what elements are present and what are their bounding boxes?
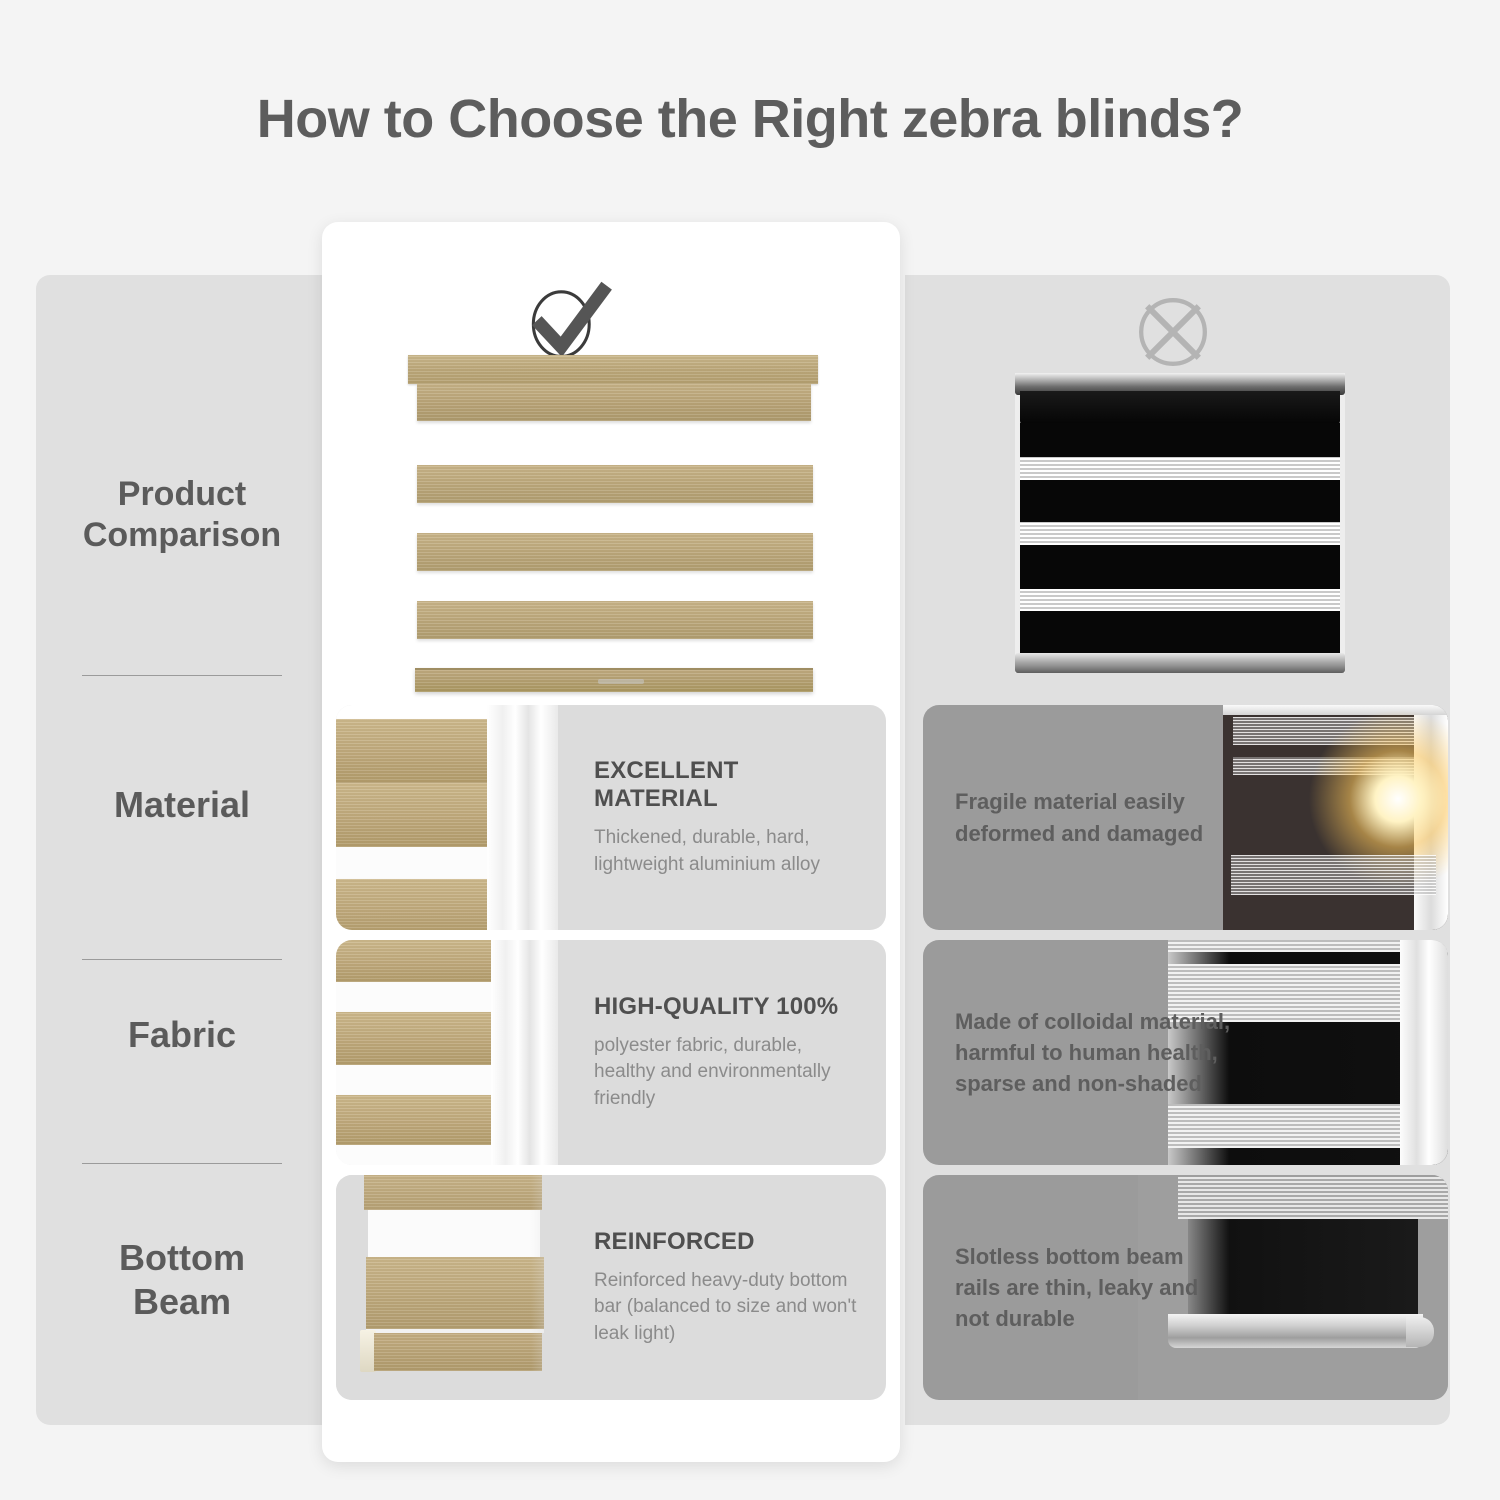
sidebar-divider-3	[82, 1163, 282, 1164]
good-bottom-beam-body: Reinforced heavy-duty bottom bar (balanc…	[594, 1268, 869, 1347]
bad-bottom-beam-text: Slotless bottom beam rails are thin, lea…	[955, 1175, 1225, 1400]
bad-material-photo	[1223, 705, 1448, 930]
sidebar-label-line2: Comparison	[83, 515, 281, 556]
good-fabric-photo	[336, 940, 558, 1165]
sidebar-label-line1: Material	[114, 783, 250, 827]
cross-circle-icon	[1130, 289, 1216, 375]
good-card-fabric: HIGH-QUALITY 100% polyester fabric, dura…	[336, 940, 886, 1165]
bad-card-material: Fragile material easily deformed and dam…	[923, 705, 1448, 930]
sidebar-divider-1	[82, 675, 282, 676]
sidebar-divider-2	[82, 959, 282, 960]
good-product-panel: EXCELLENT MATERIAL Thickened, durable, h…	[322, 222, 900, 1462]
infographic-page: How to Choose the Right zebra blinds? Pr…	[0, 0, 1500, 1500]
sidebar-item-product-comparison: Product Comparison	[36, 455, 328, 575]
good-material-body: Thickened, durable, hard, lightweight al…	[594, 825, 864, 877]
sidebar-label-line2: Beam	[133, 1280, 231, 1324]
bad-hero-image	[1015, 373, 1345, 673]
good-card-bottom-beam: REINFORCED Reinforced heavy-duty bottom …	[336, 1175, 886, 1400]
good-bottom-beam-heading: REINFORCED	[594, 1228, 869, 1256]
check-circle-icon	[515, 270, 625, 366]
good-fabric-text-block: HIGH-QUALITY 100% polyester fabric, dura…	[594, 940, 864, 1165]
good-hero-image	[408, 355, 818, 705]
bad-product-panel: Fragile material easily deformed and dam…	[905, 275, 1450, 1425]
good-material-photo	[336, 705, 558, 930]
sidebar-label-line1: Bottom	[119, 1236, 245, 1280]
sidebar-item-bottom-beam: Bottom Beam	[36, 1225, 328, 1335]
good-material-text-block: EXCELLENT MATERIAL Thickened, durable, h…	[594, 705, 864, 930]
good-fabric-heading: HIGH-QUALITY 100%	[594, 993, 864, 1021]
good-bottom-beam-text-block: REINFORCED Reinforced heavy-duty bottom …	[594, 1175, 869, 1400]
sidebar-label-line1: Product	[118, 474, 246, 515]
sidebar-item-material: Material	[36, 775, 328, 835]
page-title: How to Choose the Right zebra blinds?	[0, 88, 1500, 150]
good-fabric-body: polyester fabric, durable, healthy and e…	[594, 1033, 864, 1112]
bad-fabric-text: Made of colloidal material, harmful to h…	[955, 940, 1240, 1165]
bad-card-bottom-beam: Slotless bottom beam rails are thin, lea…	[923, 1175, 1448, 1400]
good-card-material: EXCELLENT MATERIAL Thickened, durable, h…	[336, 705, 886, 930]
good-material-heading: EXCELLENT MATERIAL	[594, 757, 864, 813]
good-bottom-beam-photo	[336, 1175, 586, 1400]
bad-material-text: Fragile material easily deformed and dam…	[955, 705, 1225, 930]
sidebar-item-fabric: Fabric	[36, 1005, 328, 1065]
bad-card-fabric: Made of colloidal material, harmful to h…	[923, 940, 1448, 1165]
row-label-sidebar: Product Comparison Material Fabric Botto…	[36, 275, 328, 1425]
sidebar-label-line1: Fabric	[128, 1013, 236, 1057]
